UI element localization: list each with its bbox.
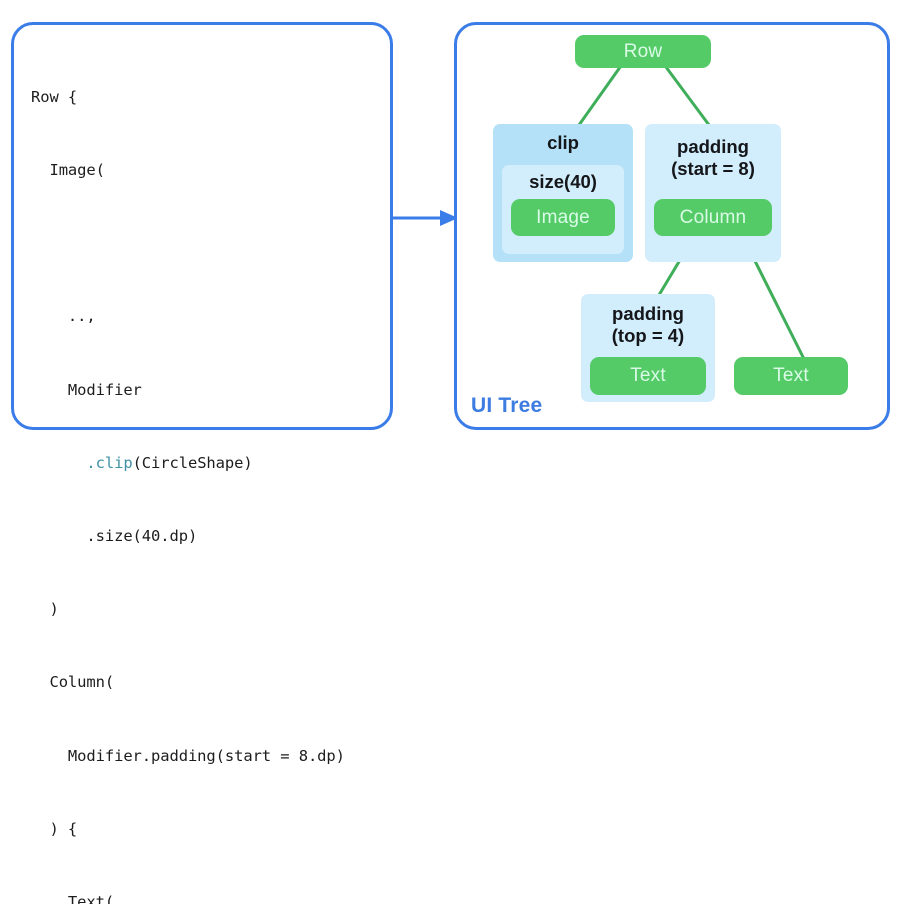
node-padding-top-label-line1: padding	[581, 303, 715, 325]
code-line: Image(	[31, 158, 384, 182]
node-text-padded-label: Text	[630, 365, 666, 387]
node-modifier-size[interactable]: size(40) Image	[502, 165, 624, 254]
code-token-args: (CircleShape)	[133, 454, 253, 472]
code-line: .size(40.dp)	[31, 524, 384, 548]
node-size-label: size(40)	[502, 171, 624, 193]
code-line: Modifier	[31, 378, 384, 402]
code-line: )	[31, 597, 384, 621]
node-modifier-padding-start[interactable]: padding (start = 8) Column	[645, 124, 781, 262]
code-line-clip: .clip(CircleShape)	[31, 451, 384, 475]
node-padding-top-label-line2: (top = 4)	[581, 325, 715, 347]
flow-arrow-icon	[390, 206, 458, 230]
code-line: Modifier.padding(start = 8.dp)	[31, 744, 384, 768]
node-text-padded[interactable]: Text	[590, 357, 706, 395]
code-block[interactable]: Row { Image( .., Modifier .clip(CircleSh…	[31, 36, 384, 904]
node-modifier-clip[interactable]: clip size(40) Image	[493, 124, 633, 262]
node-row[interactable]: Row	[575, 35, 711, 68]
node-padding-start-label-line1: padding	[645, 136, 781, 158]
node-image-label: Image	[536, 207, 590, 229]
node-row-label: Row	[624, 41, 663, 63]
code-line: ..,	[31, 304, 384, 328]
code-line: ) {	[31, 817, 384, 841]
ui-tree-panel: Row clip size(40) Image padding (start =…	[454, 22, 890, 430]
node-column-label: Column	[680, 207, 747, 229]
node-modifier-padding-top[interactable]: padding (top = 4) Text	[581, 294, 715, 402]
node-column[interactable]: Column	[654, 199, 772, 236]
node-image[interactable]: Image	[511, 199, 615, 236]
code-line	[31, 231, 384, 255]
node-text-plain-label: Text	[773, 365, 809, 387]
code-panel: Row { Image( .., Modifier .clip(CircleSh…	[11, 22, 393, 430]
code-line: Row {	[31, 85, 384, 109]
ui-tree-caption: UI Tree	[471, 394, 542, 418]
node-text-plain[interactable]: Text	[734, 357, 848, 395]
code-token-clip: .clip	[86, 454, 132, 472]
code-line: Text(	[31, 890, 384, 904]
code-line: Column(	[31, 670, 384, 694]
node-clip-label: clip	[493, 132, 633, 154]
code-indent	[31, 454, 86, 472]
node-padding-start-label-line2: (start = 8)	[645, 158, 781, 180]
